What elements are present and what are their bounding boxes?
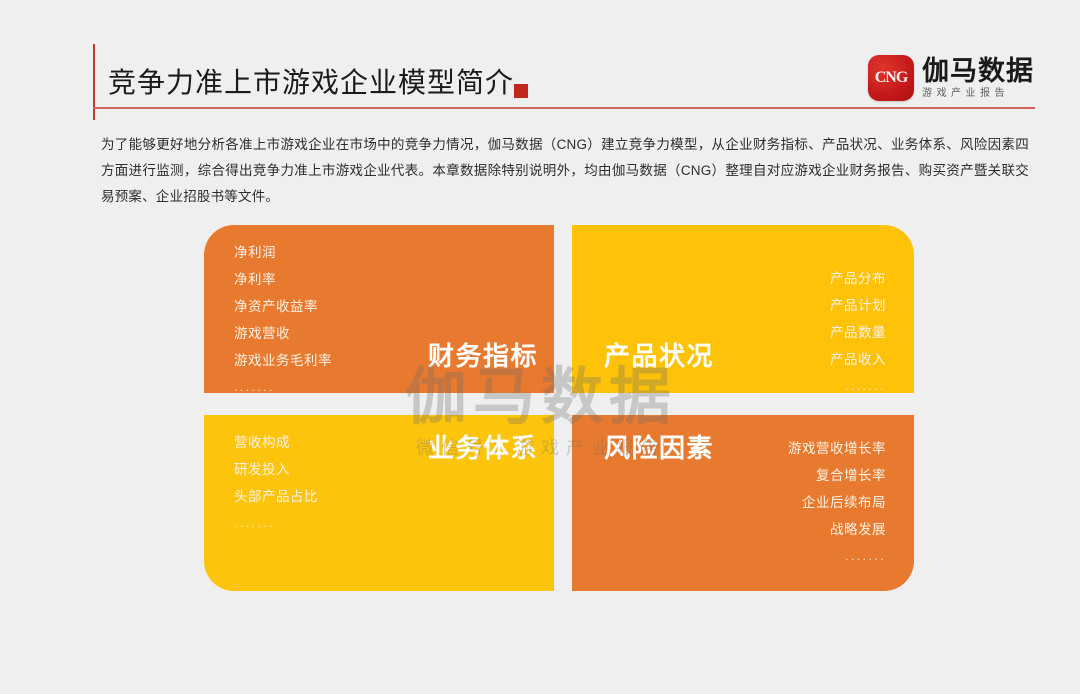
quadrant-financial-indicators: 净利润 净利率 净资产收益率 游戏营收 游戏业务毛利率 ....... 财务指标 bbox=[204, 225, 554, 393]
brand-logo: CNG 伽马数据 游戏产业报告 bbox=[868, 54, 1034, 102]
list-item: 净利润 bbox=[234, 239, 332, 266]
list-item: 企业后续布局 bbox=[788, 489, 886, 516]
brand-name: 伽马数据 bbox=[922, 58, 1034, 85]
brand-logo-text: 伽马数据 游戏产业报告 bbox=[922, 58, 1034, 99]
list-item: 净资产收益率 bbox=[234, 293, 332, 320]
list-item: 战略发展 bbox=[788, 516, 886, 543]
list-item: 产品分布 bbox=[830, 265, 886, 292]
quadrant-item-list: 产品分布 产品计划 产品数量 产品收入 ....... bbox=[830, 265, 886, 393]
list-ellipsis: ....... bbox=[234, 374, 332, 393]
slide-canvas: 竞争力准上市游戏企业模型简介 CNG 伽马数据 游戏产业报告 为了能够更好地分析… bbox=[0, 0, 1080, 694]
cng-logo-text: CNG bbox=[868, 69, 914, 87]
list-item: 净利率 bbox=[234, 266, 332, 293]
brand-subtitle: 游戏产业报告 bbox=[922, 89, 1034, 99]
list-ellipsis: ....... bbox=[788, 543, 886, 570]
quadrant-title: 产品状况 bbox=[604, 336, 714, 373]
page-title: 竞争力准上市游戏企业模型简介 bbox=[108, 66, 514, 100]
list-item: 营收构成 bbox=[234, 429, 318, 456]
cng-logo-icon: CNG bbox=[868, 55, 914, 101]
quadrant-item-list: 游戏营收增长率 复合增长率 企业后续布局 战略发展 ....... bbox=[788, 435, 886, 570]
quadrant-item-list: 营收构成 研发投入 头部产品占比 ....... bbox=[234, 429, 318, 537]
list-item: 产品数量 bbox=[830, 319, 886, 346]
quadrant-title: 风险因素 bbox=[604, 428, 714, 465]
quadrant-item-list: 净利润 净利率 净资产收益率 游戏营收 游戏业务毛利率 ....... bbox=[234, 239, 332, 393]
quadrant-product-status: 产品分布 产品计划 产品数量 产品收入 ....... 产品状况 bbox=[572, 225, 914, 393]
competitiveness-model-diagram: 净利润 净利率 净资产收益率 游戏营收 游戏业务毛利率 ....... 财务指标… bbox=[204, 225, 914, 591]
list-ellipsis: ....... bbox=[830, 373, 886, 393]
quadrant-risk-factors: 游戏营收增长率 复合增长率 企业后续布局 战略发展 ....... 风险因素 bbox=[572, 415, 914, 591]
intro-paragraph: 为了能够更好地分析各准上市游戏企业在市场中的竞争力情况，伽马数据（CNG）建立竞… bbox=[101, 132, 1029, 210]
title-accent-horizontal-rule bbox=[93, 107, 1035, 109]
quadrant-business-system: 营收构成 研发投入 头部产品占比 ....... 业务体系 bbox=[204, 415, 554, 591]
list-item: 产品计划 bbox=[830, 292, 886, 319]
list-item: 产品收入 bbox=[830, 346, 886, 373]
list-item: 头部产品占比 bbox=[234, 483, 318, 510]
list-item: 游戏业务毛利率 bbox=[234, 347, 332, 374]
list-item: 游戏营收增长率 bbox=[788, 435, 886, 462]
list-ellipsis: ....... bbox=[234, 510, 318, 537]
list-item: 游戏营收 bbox=[234, 320, 332, 347]
quadrant-title: 财务指标 bbox=[428, 336, 538, 373]
list-item: 研发投入 bbox=[234, 456, 318, 483]
list-item: 复合增长率 bbox=[788, 462, 886, 489]
title-square-marker-icon bbox=[514, 84, 528, 98]
quadrant-title: 业务体系 bbox=[428, 428, 538, 465]
